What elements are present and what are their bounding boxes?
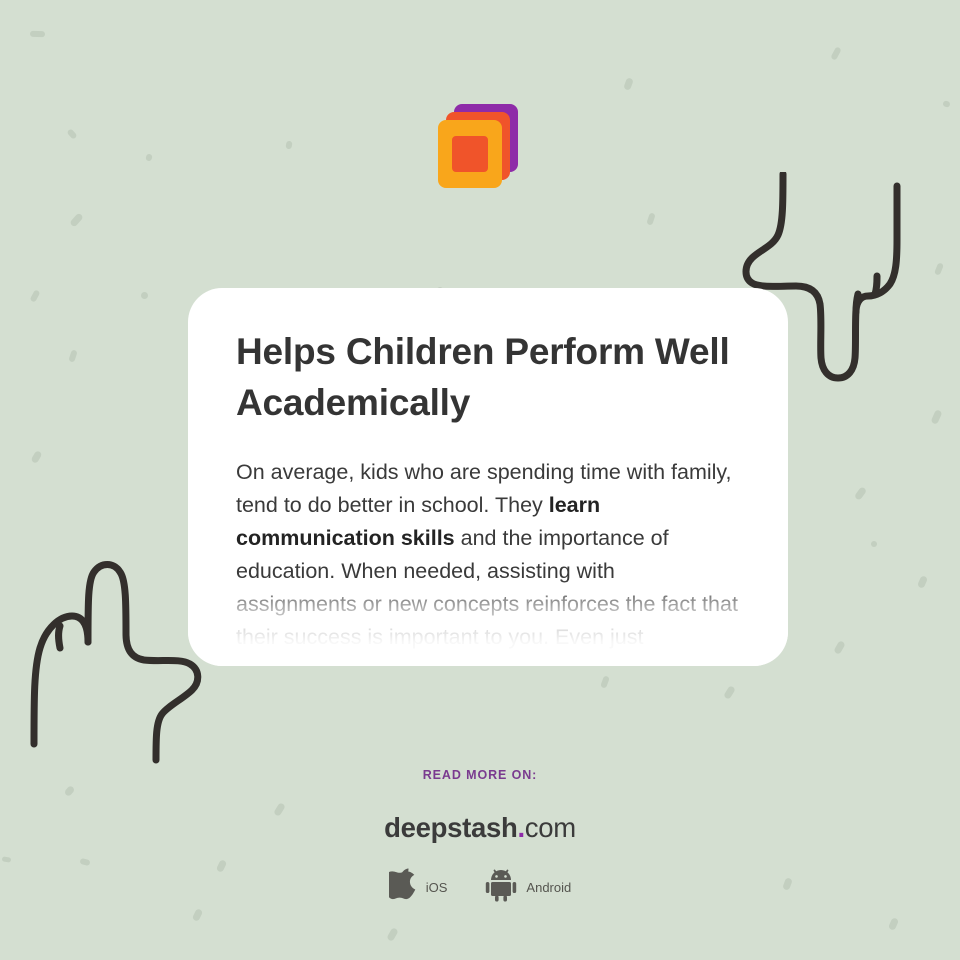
confetti-mark	[192, 908, 204, 922]
content-card: Helps Children Perform Well Academically…	[188, 288, 788, 666]
card-title: Helps Children Perform Well Academically	[236, 326, 740, 428]
confetti-mark	[833, 640, 846, 655]
confetti-mark	[646, 212, 655, 225]
poster-canvas: Helps Children Perform Well Academically…	[0, 0, 960, 960]
store-badge-android[interactable]: Android	[485, 868, 571, 907]
confetti-mark	[141, 292, 148, 299]
deepstash-logo	[436, 102, 524, 198]
confetti-mark	[934, 262, 944, 275]
confetti-mark	[30, 31, 45, 38]
confetti-mark	[386, 927, 399, 942]
confetti-mark	[888, 917, 899, 931]
read-more-label: READ MORE ON:	[0, 768, 960, 782]
brand-name: deepstash	[384, 812, 517, 843]
footer: READ MORE ON: deepstash.com iOS	[0, 768, 960, 907]
confetti-mark	[723, 685, 736, 700]
confetti-mark	[871, 541, 877, 547]
store-badge-ios[interactable]: iOS	[389, 868, 448, 907]
logo-container	[0, 102, 960, 198]
android-icon	[485, 868, 517, 907]
confetti-mark	[917, 575, 928, 589]
body-segment-1: On average, kids who are spending time w…	[236, 460, 732, 517]
confetti-mark	[854, 486, 867, 501]
pointing-hand-left-icon	[24, 558, 204, 788]
confetti-mark	[930, 409, 942, 425]
confetti-mark	[623, 77, 634, 91]
confetti-mark	[69, 212, 84, 227]
store-badges: iOS	[0, 868, 960, 907]
confetti-mark	[830, 46, 841, 60]
brand-dot: .	[517, 812, 524, 843]
brand-wordmark: deepstash.com	[0, 812, 960, 844]
confetti-mark	[68, 349, 77, 362]
brand-tld: com	[525, 812, 576, 843]
confetti-mark	[30, 450, 42, 464]
confetti-mark	[600, 675, 610, 688]
store-label-ios: iOS	[426, 880, 448, 895]
apple-icon	[389, 868, 417, 907]
store-label-android: Android	[526, 880, 571, 895]
card-body-text: On average, kids who are spending time w…	[236, 456, 740, 654]
confetti-mark	[30, 289, 41, 302]
